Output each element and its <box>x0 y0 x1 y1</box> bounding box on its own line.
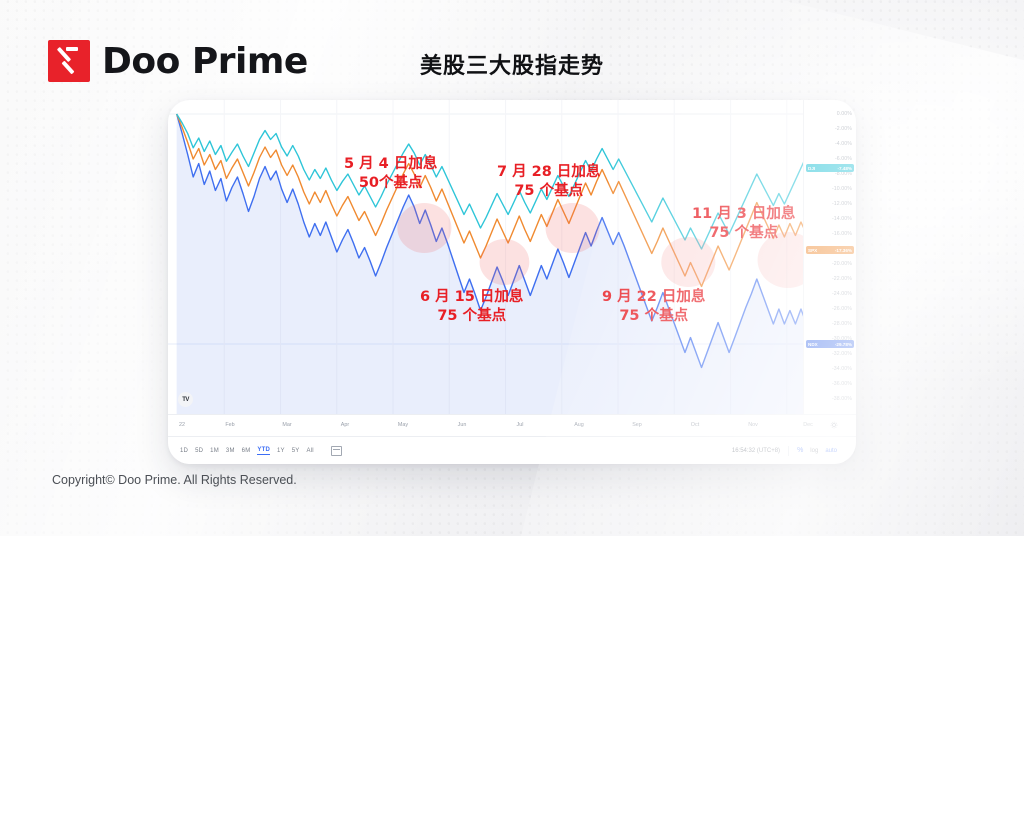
range-1y[interactable]: 1Y <box>277 448 285 454</box>
chart-plot-area <box>168 100 856 414</box>
hike-marker-may <box>397 203 451 253</box>
annotation-hike-jul: 7 月 28 日加息 75 个基点 <box>497 163 600 201</box>
annotation-hike-jun: 6 月 15 日加息 75 个基点 <box>420 288 523 326</box>
clock-label: 16:54:32 (UTC+8) <box>732 448 780 454</box>
price-badge-value: -17.36% <box>835 248 852 253</box>
x-tick: Dec <box>803 422 813 428</box>
range-selector[interactable]: 1D 5D 1M 3M 6M YTD 1Y 5Y All <box>180 446 342 456</box>
x-tick: 22 <box>179 422 185 428</box>
range-6m[interactable]: 6M <box>242 448 251 454</box>
percent-toggle[interactable]: % <box>797 447 803 454</box>
y-tick: -12.00% <box>832 201 852 207</box>
y-tick: -6.00% <box>835 156 852 162</box>
poster-canvas: Doo Prime 美股三大股指走势 <box>0 0 1024 536</box>
auto-toggle[interactable]: auto <box>825 448 837 454</box>
page-title: 美股三大股指走势 <box>0 48 1024 80</box>
range-all[interactable]: All <box>307 448 314 454</box>
hike-marker-jun <box>480 239 530 285</box>
price-badge-value: -7.48% <box>837 166 852 171</box>
x-tick: Jun <box>458 422 467 428</box>
tradingview-logo-icon: TV <box>178 392 193 407</box>
y-tick: 0.00% <box>837 111 852 117</box>
y-tick: -4.00% <box>835 141 852 147</box>
range-3m[interactable]: 3M <box>226 448 235 454</box>
chart-card: 0.00% -2.00% -4.00% -6.00% -8.00% -10.00… <box>168 100 856 464</box>
chart-svg <box>168 100 856 414</box>
x-tick: Feb <box>225 422 234 428</box>
calendar-icon[interactable] <box>331 446 342 456</box>
y-tick: -20.00% <box>832 261 852 267</box>
x-tick: Apr <box>341 422 349 428</box>
annotation-hike-may: 5 月 4 日加息 50个基点 <box>344 155 437 193</box>
y-tick: -36.00% <box>832 381 852 387</box>
y-tick: -38.00% <box>832 396 852 402</box>
time-axis[interactable]: 22 Feb Mar Apr May Jun Jul Aug Sep Oct N… <box>168 414 856 437</box>
log-toggle[interactable]: log <box>810 448 818 454</box>
x-tick: Nov <box>748 422 758 428</box>
price-badge-dji[interactable]: DJI -7.48% <box>806 164 854 172</box>
range-1d[interactable]: 1D <box>180 448 188 454</box>
price-badge-value: -29.78% <box>835 342 852 347</box>
range-ytd[interactable]: YTD <box>257 447 270 455</box>
y-tick: -14.00% <box>832 216 852 222</box>
annotation-hike-sep: 9 月 22 日加息 75 个基点 <box>602 288 705 326</box>
annotation-hike-nov: 11 月 3 日加息 75 个基点 <box>692 205 795 243</box>
x-tick: May <box>398 422 408 428</box>
y-tick: -26.00% <box>832 306 852 312</box>
x-tick: Aug <box>574 422 584 428</box>
price-badge-symbol: DJI <box>808 166 815 171</box>
y-tick: -28.00% <box>832 321 852 327</box>
y-tick: -2.00% <box>835 126 852 132</box>
x-tick: Oct <box>691 422 699 428</box>
y-tick: -10.00% <box>832 186 852 192</box>
price-badge-symbol: SPX <box>808 248 817 253</box>
y-tick: -22.00% <box>832 276 852 282</box>
range-5d[interactable]: 5D <box>195 448 203 454</box>
y-tick: -16.00% <box>832 231 852 237</box>
hike-marker-jul <box>546 203 600 253</box>
y-tick: -24.00% <box>832 291 852 297</box>
y-tick: -32.00% <box>832 351 852 357</box>
x-tick: Sep <box>632 422 642 428</box>
price-badge-ndx[interactable]: NDX -29.78% <box>806 340 854 348</box>
x-tick: Mar <box>282 422 291 428</box>
price-axis[interactable]: 0.00% -2.00% -4.00% -6.00% -8.00% -10.00… <box>803 100 856 414</box>
y-tick: -34.00% <box>832 366 852 372</box>
range-1m[interactable]: 1M <box>210 448 219 454</box>
toolbar-divider <box>788 446 789 456</box>
range-5y[interactable]: 5Y <box>292 448 300 454</box>
settings-gear-icon[interactable] <box>830 421 838 429</box>
price-badge-spx[interactable]: SPX -17.36% <box>806 246 854 254</box>
chart-toolbar[interactable]: 1D 5D 1M 3M 6M YTD 1Y 5Y All 16:54:32 (U… <box>168 436 856 464</box>
copyright-text: Copyright© Doo Prime. All Rights Reserve… <box>52 473 297 487</box>
x-tick: Jul <box>517 422 524 428</box>
price-badge-symbol: NDX <box>808 342 818 347</box>
hike-marker-sep <box>661 237 715 287</box>
